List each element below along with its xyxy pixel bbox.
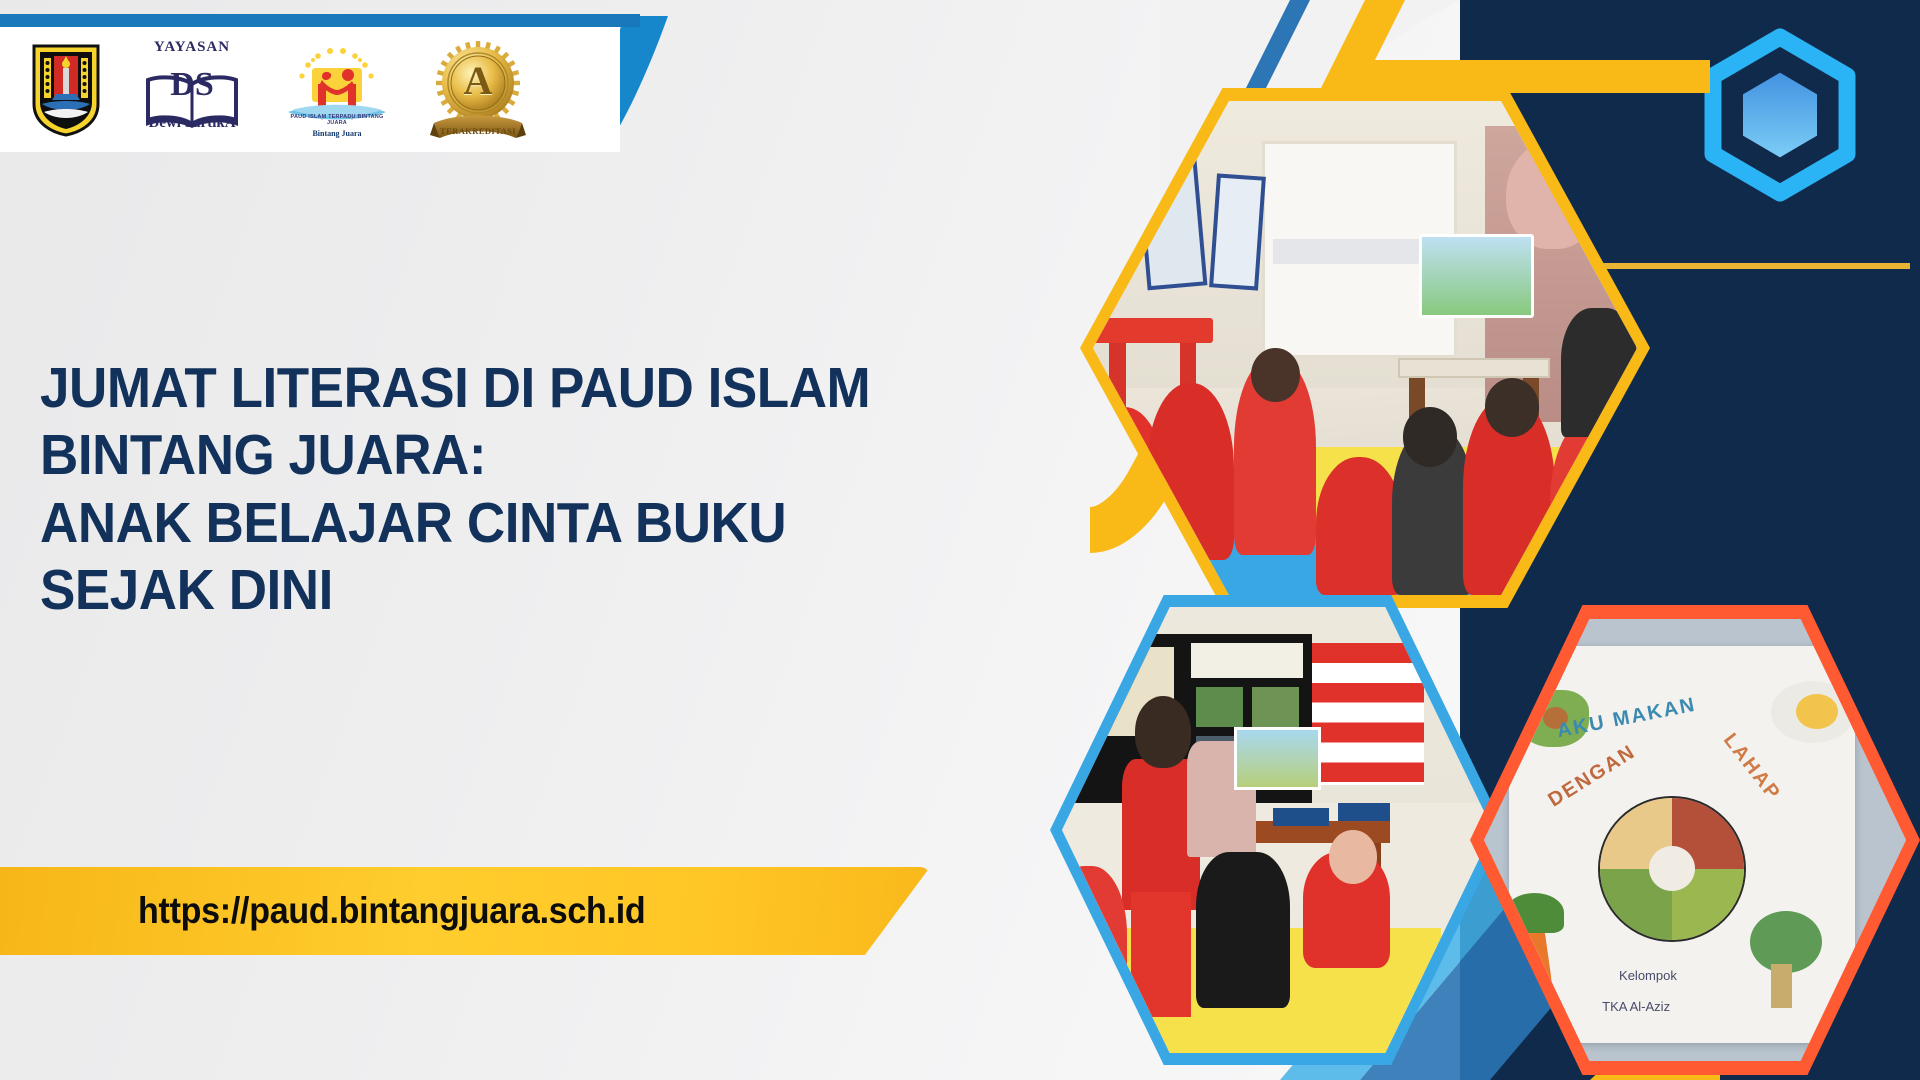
headline-line-2: BINTANG JUARA:	[40, 422, 1082, 489]
poster-group-line2: TKA Al-Aziz	[1602, 999, 1670, 1014]
bintang-juara-logo: PAUD ISLAM TERPADU BINTANG JUARA Bintang…	[282, 40, 392, 140]
page-title: JUMAT LITERASI DI PAUD ISLAM BINTANG JUA…	[40, 355, 1082, 624]
akreditasi-a-logo: A TERAKREDITASI	[428, 39, 528, 141]
logobar-top-rule	[0, 14, 640, 27]
poster-group-line1: Kelompok	[1619, 968, 1677, 983]
photo-poster-nutrition: AKU MAKAN DENGAN LAHAP Kelompok TKA Al-A…	[1484, 619, 1906, 1061]
akreditasi-grade: A	[428, 61, 528, 101]
url-banner: https://paud.bintangjuara.sch.id	[0, 867, 930, 955]
yayasan-dewi-sartika-logo: YAYASAN DS Dewi SartikA	[138, 40, 246, 140]
ds-initials: DS	[138, 56, 246, 102]
logo-bar: YAYASAN DS Dewi SartikA	[0, 27, 600, 152]
bintang-juara-tagline: PAUD ISLAM TERPADU BINTANG JUARA	[282, 114, 392, 126]
akreditasi-ribbon-label: TERAKREDITASI	[428, 126, 528, 136]
website-url[interactable]: https://paud.bintangjuara.sch.id	[138, 890, 645, 932]
headline-line-3: ANAK BELAJAR CINTA BUKU	[40, 490, 1082, 557]
poster-canvas: AKU MAKAN DENGAN LAHAP Kelompok TKA Al-A…	[0, 0, 1920, 1080]
yayasan-word: YAYASAN	[138, 40, 246, 55]
headline-line-4: SEJAK DINI	[40, 557, 1082, 624]
semarang-crest-logo	[30, 42, 102, 137]
photo-child-presenting	[1062, 607, 1493, 1053]
bintang-juara-ribbon-label: Bintang Juara	[282, 129, 392, 138]
headline-line-1: JUMAT LITERASI DI PAUD ISLAM	[40, 355, 1082, 422]
